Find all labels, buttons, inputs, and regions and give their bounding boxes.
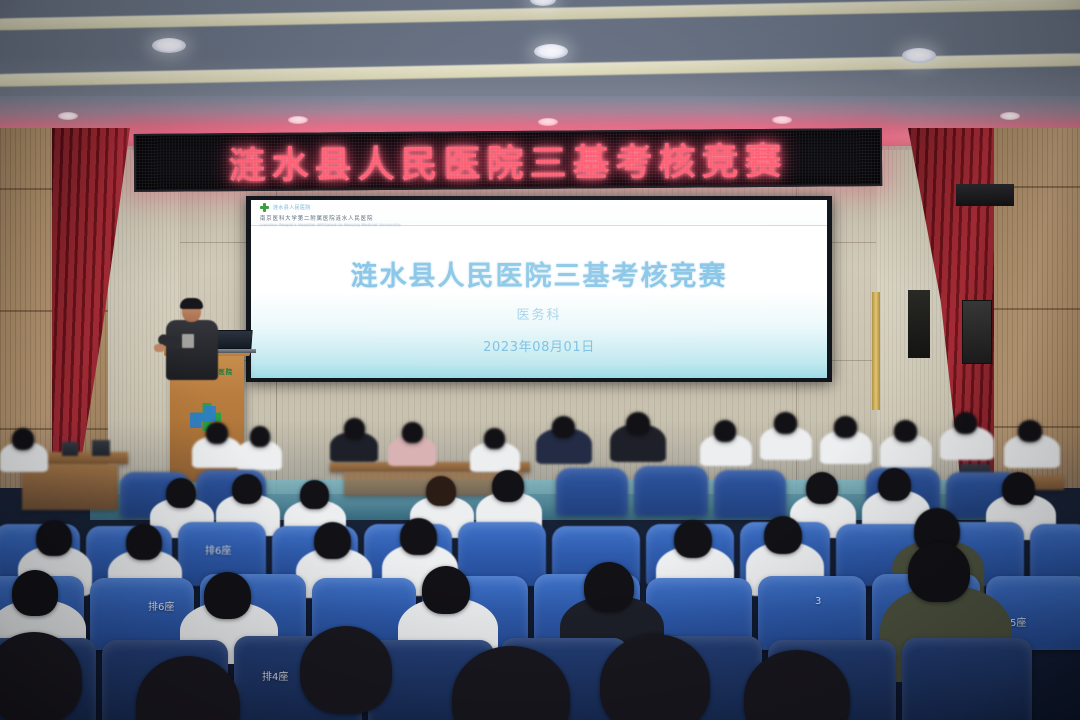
audience-person <box>954 412 977 434</box>
ceiling-downlight <box>902 48 936 63</box>
audience-person <box>204 572 251 619</box>
seat[interactable] <box>634 466 708 516</box>
audience-person <box>206 422 228 444</box>
slide-title: 涟水县人民医院三基考核竞赛 <box>251 254 827 293</box>
seat[interactable] <box>556 468 628 516</box>
led-banner-text: 涟水县人民医院三基考核竞赛 <box>136 130 880 190</box>
led-banner: 涟水县人民医院三基考核竞赛 <box>134 128 882 192</box>
audience-person <box>878 468 911 501</box>
audience-person <box>674 520 712 558</box>
hospital-cross-icon <box>260 203 269 212</box>
audience-person <box>774 412 797 434</box>
audience-person <box>12 428 34 450</box>
seat-label: 排4座 <box>262 668 288 683</box>
wall-speaker <box>956 184 1014 206</box>
audience-person <box>764 516 802 554</box>
presentation-slide: 涟水县人民医院 南京医科大学第二附属医院涟水人民医院 Lianshui Peop… <box>251 200 827 378</box>
audience-person <box>300 480 329 509</box>
wall-niche <box>908 290 930 358</box>
seat-label: 排6座 <box>148 598 174 613</box>
audience-person <box>126 524 162 560</box>
slide-header: 涟水县人民医院 南京医科大学第二附属医院涟水人民医院 Lianshui Peop… <box>251 200 827 226</box>
seat[interactable] <box>758 576 866 650</box>
slide-affiliation-cn: 南京医科大学第二附属医院涟水人民医院 <box>260 214 827 222</box>
audience-person <box>484 428 505 449</box>
seat[interactable] <box>902 638 1032 720</box>
audience-person <box>400 518 437 555</box>
audience-person <box>232 474 262 504</box>
audience-person <box>806 472 838 504</box>
ceiling-downlight <box>530 0 556 6</box>
gold-wall-strip <box>872 292 880 410</box>
presenter <box>160 300 224 390</box>
audience-person <box>552 416 575 438</box>
audience-area: 2排 排6座 <box>0 420 1080 720</box>
audience-person <box>402 422 423 443</box>
ceiling-downlight <box>1000 112 1020 120</box>
audience-person <box>584 562 634 612</box>
audience-person <box>250 426 270 447</box>
slide-affiliation-en: Lianshui People's Hospital Affiliated to… <box>260 223 827 227</box>
audience-person <box>1002 472 1035 505</box>
audience-person <box>426 476 456 506</box>
ceiling-downlight <box>534 44 568 59</box>
seat-label: 3 <box>815 596 821 607</box>
audience-person <box>894 420 917 442</box>
audience-person <box>300 626 392 714</box>
slide-date: 2023年08月01日 <box>251 336 827 355</box>
audience-person <box>1018 420 1042 442</box>
audience-person <box>908 542 970 602</box>
audience-person <box>12 570 58 616</box>
audience-person <box>344 418 365 439</box>
projection-screen: 涟水县人民医院 南京医科大学第二附属医院涟水人民医院 Lianshui Peop… <box>246 196 832 382</box>
auditorium-scene: 涟水县人民医院三基考核竞赛 涟水县人民医院 南京医科大学第二附属医院涟水人民医院… <box>0 0 1080 720</box>
ceiling-downlight <box>772 116 792 124</box>
audience-person <box>422 566 470 614</box>
seat[interactable] <box>714 470 786 518</box>
ceiling-downlight <box>538 118 558 126</box>
wall-speaker <box>962 300 992 364</box>
ceiling-downlight <box>58 112 78 120</box>
audience-person <box>834 416 857 438</box>
slide-hospital-name: 涟水县人民医院 <box>273 204 311 211</box>
audience-person <box>714 420 736 442</box>
audience-person <box>626 412 650 435</box>
audience-person <box>166 478 196 508</box>
slide-department: 医务科 <box>251 304 827 323</box>
audience-person <box>36 520 72 556</box>
audience-person <box>492 470 524 502</box>
audience-person <box>314 522 351 559</box>
seat-label: 排6座 <box>205 542 231 557</box>
ceiling-downlight <box>152 38 186 53</box>
ceiling-downlight <box>288 116 308 124</box>
